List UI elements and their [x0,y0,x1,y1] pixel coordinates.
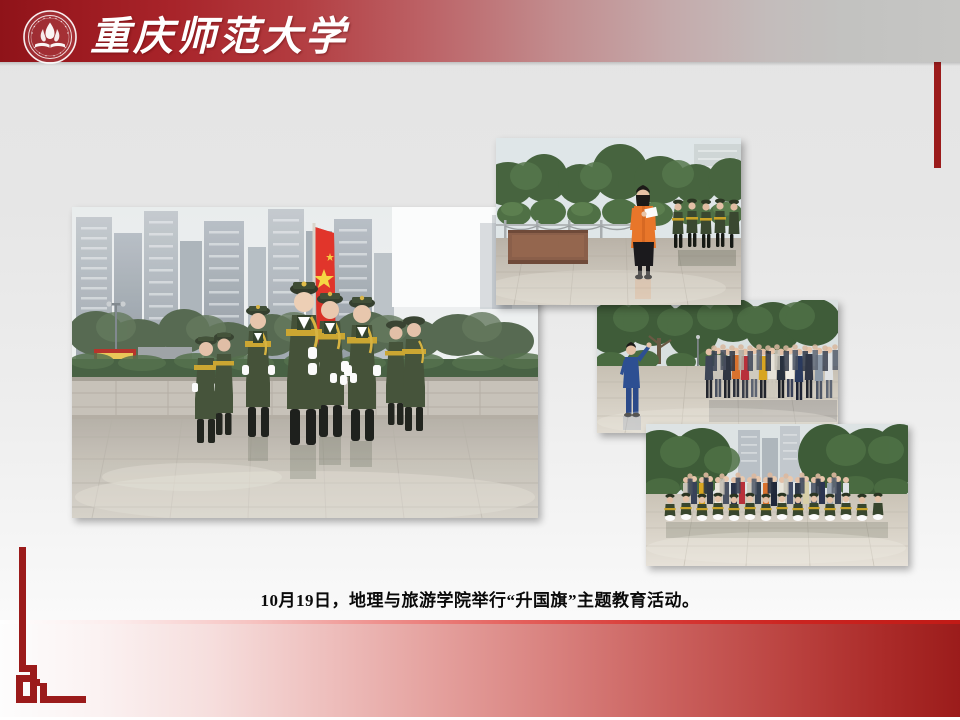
photo-speaker-orange-coat[interactable] [496,138,741,305]
photo-honor-guard-flag[interactable] [72,207,538,518]
university-seal-icon [22,9,78,65]
slide-canvas: 重庆师范大学 [0,0,960,720]
slide-caption-text: 10月19日，地理与旅游学院举行“升国旗”主题教育活动。 [0,586,960,611]
footer-highlight-line [0,620,960,624]
header-drop-shadow [0,62,960,66]
photo-group-commemorative[interactable] [646,424,908,566]
corner-ornament-bottom-left-icon [16,547,86,712]
slide-header-bar: 重庆师范大学 [0,0,960,62]
university-name-text: 重庆师范大学 [90,6,348,60]
footer-gradient-band [0,624,960,720]
photo-choir-conductor[interactable] [597,300,838,433]
